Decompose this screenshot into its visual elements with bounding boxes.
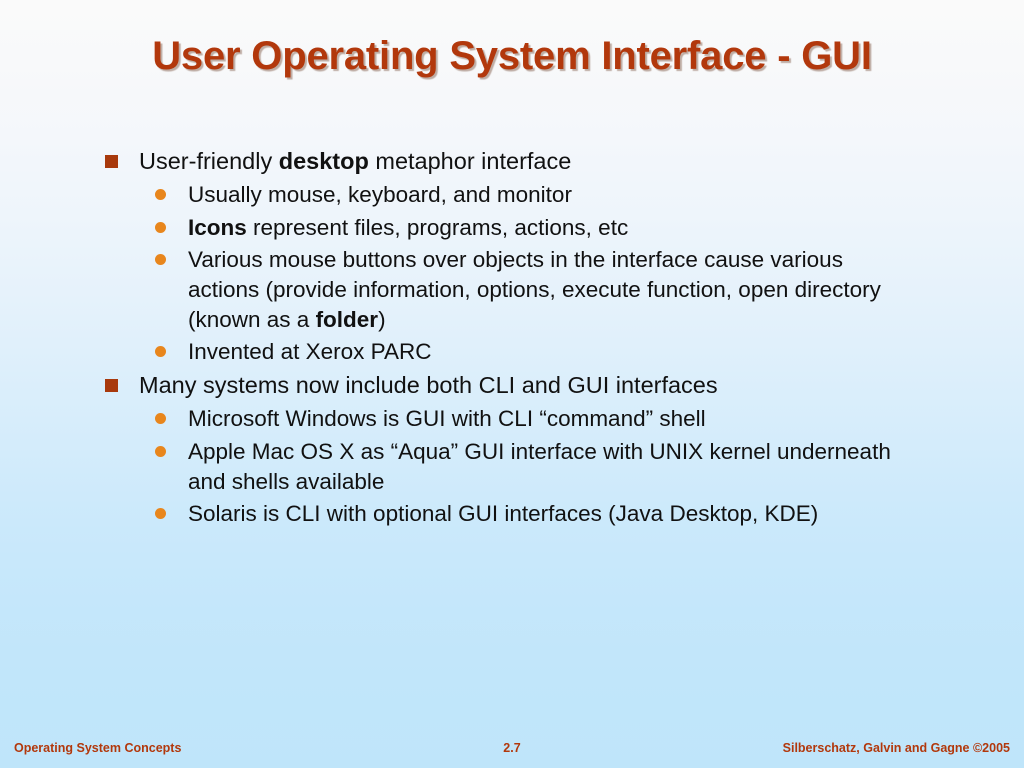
footer-copyright: Silberschatz, Galvin and Gagne ©2005 <box>783 741 1010 755</box>
bullet-text-run: Microsoft Windows is GUI with CLI “comma… <box>188 406 706 431</box>
dot-bullet-icon <box>155 446 166 457</box>
dot-bullet-icon <box>155 254 166 265</box>
bullet-text: Invented at Xerox PARC <box>188 337 431 367</box>
bullet-text-run: Apple Mac OS X as “Aqua” GUI interface w… <box>188 439 891 494</box>
bullet-text-emphasis: folder <box>316 307 379 332</box>
bullet-text-run: represent files, programs, actions, etc <box>247 215 628 240</box>
bullet-text: Solaris is CLI with optional GUI interfa… <box>188 499 818 529</box>
bullet-text: User-friendly desktop metaphor interface <box>139 146 571 177</box>
bullet-item: Various mouse buttons over objects in th… <box>0 245 1024 334</box>
bullet-item: Microsoft Windows is GUI with CLI “comma… <box>0 404 1024 434</box>
dot-bullet-icon <box>155 189 166 200</box>
bullet-item: User-friendly desktop metaphor interface <box>0 146 1024 177</box>
bullet-text-run: Solaris is CLI with optional GUI interfa… <box>188 501 818 526</box>
dot-bullet-icon <box>155 413 166 424</box>
square-bullet-icon <box>105 379 118 392</box>
bullet-text-run: User-friendly <box>139 148 279 174</box>
bullet-text-run: metaphor interface <box>369 148 571 174</box>
dot-bullet-icon <box>155 346 166 357</box>
bullet-text: Many systems now include both CLI and GU… <box>139 370 718 401</box>
bullet-item: Many systems now include both CLI and GU… <box>0 370 1024 401</box>
bullet-item: Solaris is CLI with optional GUI interfa… <box>0 499 1024 529</box>
bullet-text-run: Many systems now include both CLI and GU… <box>139 372 718 398</box>
bullet-text-run: ) <box>378 307 386 332</box>
bullet-text: Usually mouse, keyboard, and monitor <box>188 180 572 210</box>
bullet-text-run: Usually mouse, keyboard, and monitor <box>188 182 572 207</box>
bullet-text-run: Invented at Xerox PARC <box>188 339 431 364</box>
slide-title-block: User Operating System Interface - GUI <box>0 34 1024 79</box>
bullet-text-run: Various mouse buttons over objects in th… <box>188 247 881 331</box>
bullet-item: Usually mouse, keyboard, and monitor <box>0 180 1024 210</box>
bullet-item: Icons represent files, programs, actions… <box>0 213 1024 243</box>
bullet-text: Microsoft Windows is GUI with CLI “comma… <box>188 404 706 434</box>
dot-bullet-icon <box>155 222 166 233</box>
page-title: User Operating System Interface - GUI <box>152 34 872 79</box>
bullet-item: Invented at Xerox PARC <box>0 337 1024 367</box>
bullet-text-emphasis: Icons <box>188 215 247 240</box>
square-bullet-icon <box>105 155 118 168</box>
dot-bullet-icon <box>155 508 166 519</box>
bullet-text: Icons represent files, programs, actions… <box>188 213 628 243</box>
bullet-text: Apple Mac OS X as “Aqua” GUI interface w… <box>188 437 908 496</box>
bullet-text-emphasis: desktop <box>279 148 369 174</box>
presentation-slide: User Operating System Interface - GUI Us… <box>0 0 1024 768</box>
slide-body: User-friendly desktop metaphor interface… <box>0 146 1024 532</box>
bullet-text: Various mouse buttons over objects in th… <box>188 245 908 334</box>
bullet-item: Apple Mac OS X as “Aqua” GUI interface w… <box>0 437 1024 496</box>
slide-footer: Operating System Concepts 2.7 Silberscha… <box>0 732 1024 768</box>
